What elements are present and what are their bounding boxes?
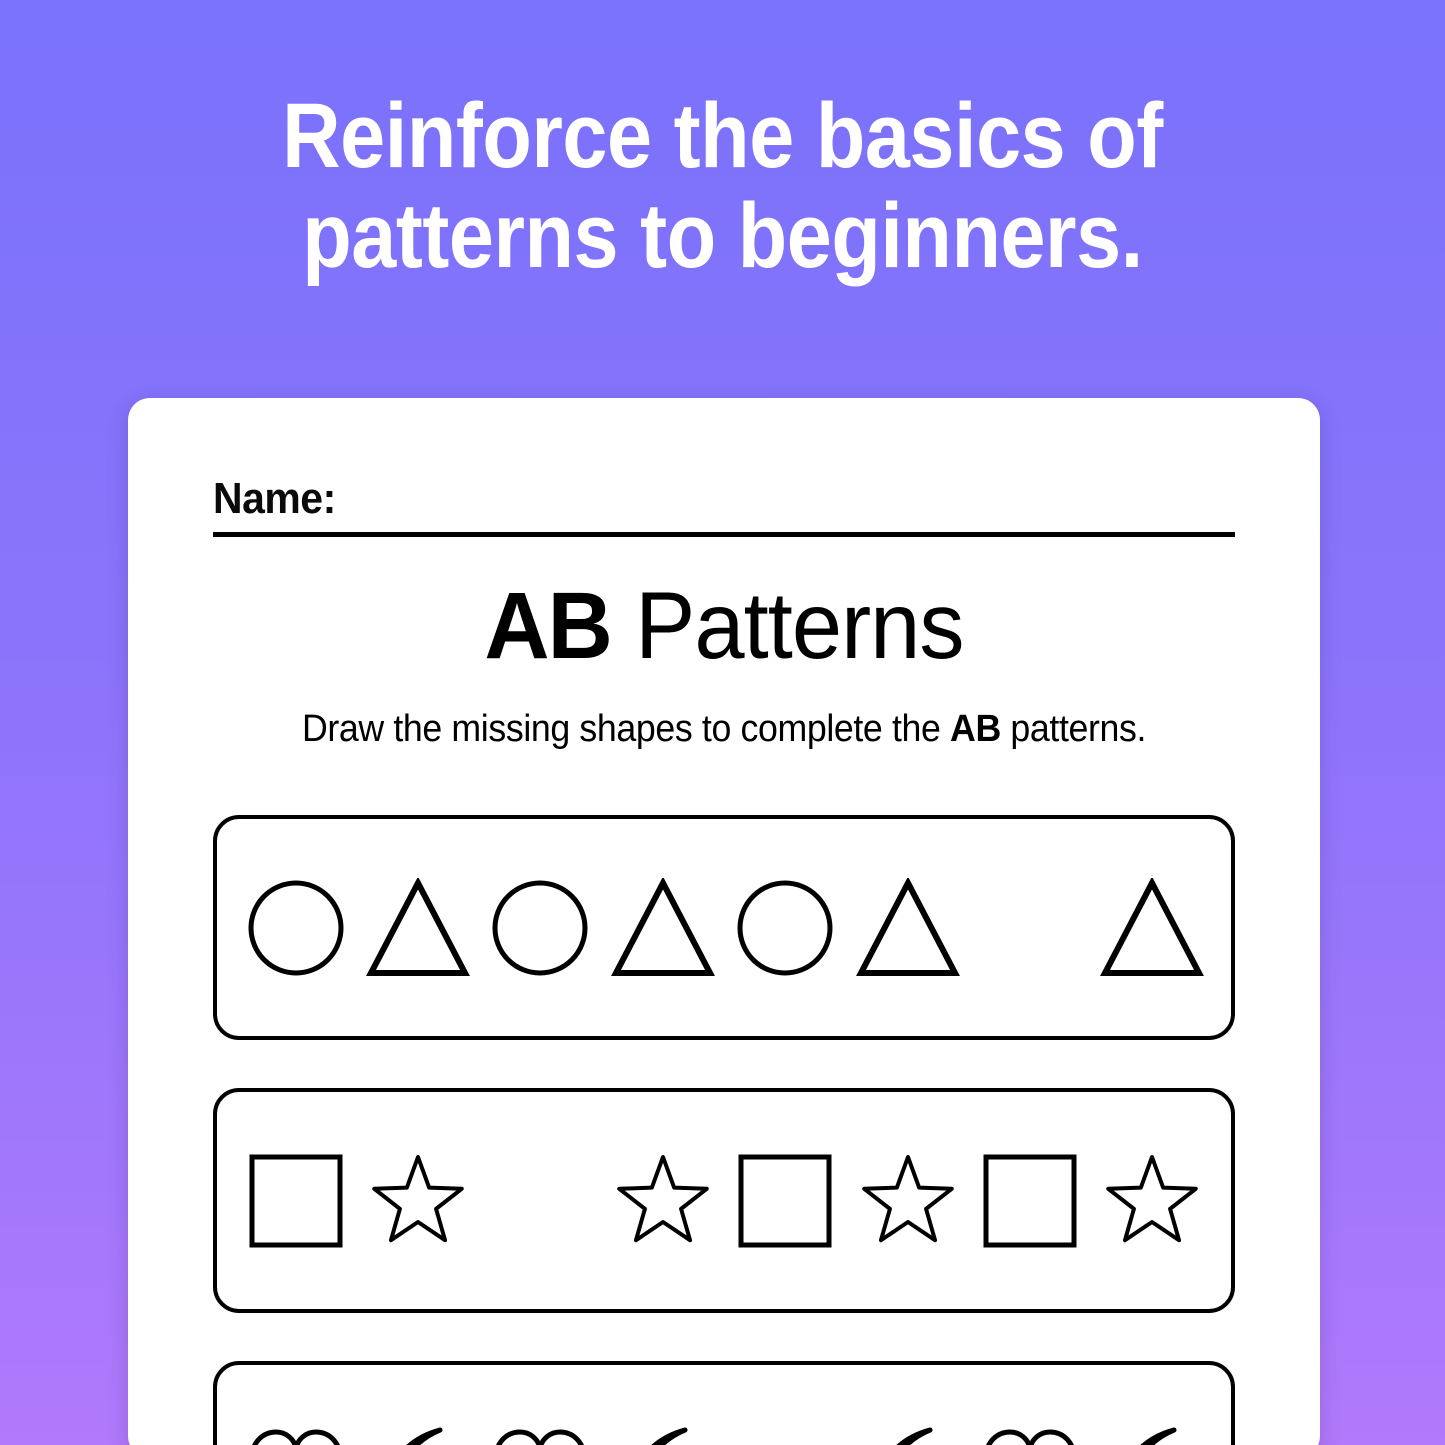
name-label: Name:: [213, 473, 336, 525]
pattern-row: [213, 815, 1235, 1040]
shape-heart-icon: [243, 1415, 348, 1445]
shape-square-icon: [243, 1142, 348, 1260]
page-title-strong: AB: [484, 573, 611, 679]
worksheet-card: Name: AB Patterns Draw the missing shape…: [128, 398, 1320, 1445]
name-field-row: Name:: [213, 473, 1235, 537]
shape-triangle-icon: [610, 869, 715, 987]
promo-headline: Reinforce the basics of patterns to begi…: [87, 86, 1359, 286]
shape-star-icon: [610, 1142, 715, 1260]
page-subtitle-before: Draw the missing shapes to complete the: [302, 708, 950, 750]
shape-circle-icon: [733, 869, 838, 987]
page-title-rest: Patterns: [611, 573, 964, 679]
shape-strip: [243, 1142, 1205, 1260]
pattern-rows: [213, 815, 1235, 1445]
shape-moon-icon: [855, 1415, 960, 1445]
worksheet-promo-page: Reinforce the basics of patterns to begi…: [0, 0, 1445, 1445]
shape-triangle-icon: [855, 869, 960, 987]
pattern-row: [213, 1361, 1235, 1445]
shape-square-icon: [733, 1142, 838, 1260]
pattern-row: [213, 1088, 1235, 1313]
shape-triangle-icon: [1100, 869, 1205, 987]
page-title: AB Patterns: [158, 574, 1290, 678]
shape-moon-icon: [610, 1415, 715, 1445]
shape-moon-icon: [365, 1415, 470, 1445]
answer-blank-slot[interactable]: [978, 869, 1083, 987]
shape-circle-icon: [243, 869, 348, 987]
shape-circle-icon: [488, 869, 593, 987]
shape-triangle-icon: [365, 869, 470, 987]
page-subtitle-strong: AB: [950, 708, 1001, 750]
answer-blank-slot[interactable]: [733, 1415, 838, 1445]
shape-strip: [243, 869, 1205, 987]
answer-blank-slot[interactable]: [488, 1142, 593, 1260]
shape-strip: [243, 1415, 1205, 1445]
shape-heart-icon: [488, 1415, 593, 1445]
shape-heart-icon: [978, 1415, 1083, 1445]
page-subtitle-after: patterns.: [1001, 708, 1146, 750]
shape-square-icon: [978, 1142, 1083, 1260]
name-write-line[interactable]: [213, 532, 1235, 537]
shape-star-icon: [365, 1142, 470, 1260]
page-subtitle: Draw the missing shapes to complete the …: [164, 706, 1284, 752]
shape-moon-icon: [1100, 1415, 1205, 1445]
shape-star-icon: [1100, 1142, 1205, 1260]
shape-star-icon: [855, 1142, 960, 1260]
